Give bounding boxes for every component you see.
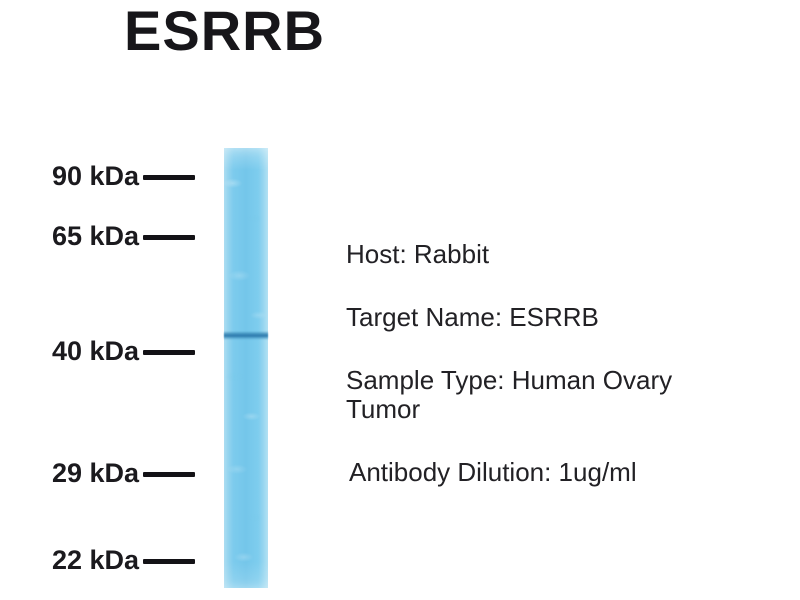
protein-band — [224, 331, 268, 340]
annotation-block: Host: Rabbit Target Name: ESRRB Sample T… — [346, 240, 776, 488]
ladder-marker-label: 90 kDa — [52, 163, 139, 190]
annotation-target: Target Name: ESRRB — [346, 303, 776, 332]
page-title: ESRRB — [124, 2, 325, 61]
gel-lane — [224, 148, 268, 588]
gel-lane-texture — [224, 148, 268, 588]
ladder-marker-label: 29 kDa — [52, 460, 139, 487]
annotation-sample: Sample Type: Human Ovary Tumor — [346, 366, 776, 424]
ladder-marker-label: 65 kDa — [52, 223, 139, 250]
western-blot-figure: ESRRB 90 kDa 65 kDa 40 kDa 29 kDa 22 kDa… — [0, 0, 800, 600]
ladder-tick-icon — [143, 559, 195, 564]
annotation-host: Host: Rabbit — [346, 240, 776, 269]
annotation-dilution: Antibody Dilution: 1ug/ml — [346, 458, 776, 487]
ladder-marker-label: 22 kDa — [52, 547, 139, 574]
ladder-tick-icon — [143, 472, 195, 477]
ladder-marker-label: 40 kDa — [52, 338, 139, 365]
ladder-tick-icon — [143, 350, 195, 355]
ladder-tick-icon — [143, 235, 195, 240]
ladder-tick-icon — [143, 175, 195, 180]
